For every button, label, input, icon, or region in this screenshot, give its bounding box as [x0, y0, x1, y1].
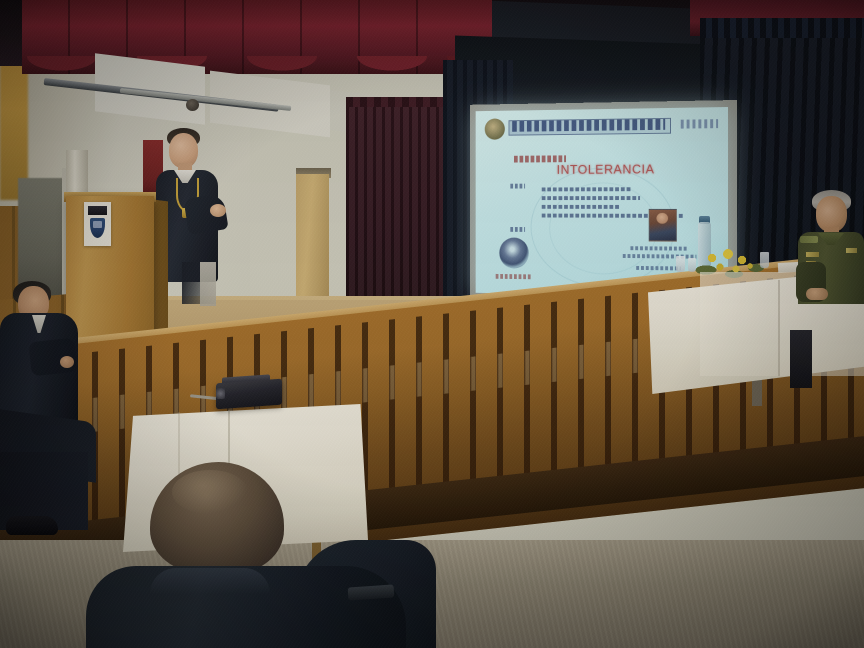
officer-epaulette [800, 236, 818, 243]
slide-presenter-photo [649, 209, 677, 242]
drinking-glass [688, 258, 696, 272]
video-projector [216, 379, 282, 410]
rail-lamp-icon [186, 99, 199, 111]
slide-bullet [542, 187, 633, 191]
drinking-glass [676, 256, 685, 272]
slide-caption-line [630, 246, 688, 250]
center-door [296, 174, 329, 304]
speaker-hand [210, 204, 226, 217]
slide-bullet [542, 205, 621, 209]
slide-caption-line [623, 254, 697, 259]
slide-header-text [512, 119, 665, 132]
foreground-attendee-hair-highlight [172, 470, 248, 514]
slide-section-label-2 [510, 227, 525, 232]
slide-caption-line [636, 266, 681, 270]
slide-section-label-1 [510, 184, 525, 189]
attendee-shoe [6, 516, 58, 535]
projector-lens-icon [216, 388, 225, 399]
head-tablecloth-fold [778, 280, 780, 376]
officer-chair [790, 330, 812, 388]
slide-bullet [542, 196, 640, 200]
officer-insignia-icon [846, 248, 857, 253]
foreground-attendee-collar [150, 568, 270, 594]
slide-institution-seal-icon [485, 118, 505, 139]
attendee-hand [60, 356, 74, 368]
red-valance-curtain [22, 0, 492, 74]
slide-footer-text [496, 274, 533, 279]
officer-hand [806, 288, 828, 300]
slide-partner-logo-icon [681, 119, 718, 128]
slide-bottom-emblem-icon [499, 238, 528, 269]
podium-sign-header [88, 206, 107, 215]
speaker-backlight [200, 262, 216, 306]
slide-title: INTOLERANCIA [557, 162, 655, 177]
officer-insignia-icon [806, 252, 819, 257]
photograph-conference-hall: INTOLERANCIA [0, 0, 864, 648]
drinking-glass [760, 252, 769, 268]
